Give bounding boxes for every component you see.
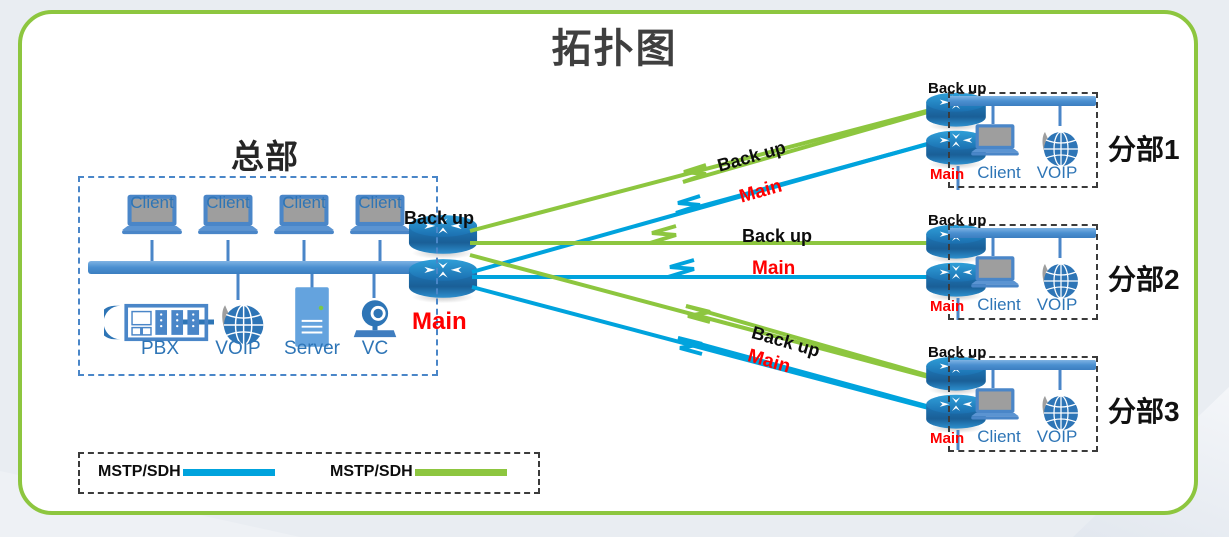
link-hq-branch3-backup — [470, 255, 932, 378]
link-hq-branch2-backup — [470, 226, 930, 243]
branch1-main-router-label: Main — [930, 166, 964, 183]
legend: MSTP/SDH MSTP/SDH — [78, 452, 540, 494]
hq-server-label: Server — [282, 340, 342, 357]
hq-vc-label: VC — [352, 340, 398, 357]
branch3-voip-label: VOIP — [1034, 428, 1080, 445]
branch1-client-label: Client — [972, 164, 1026, 181]
link-hq-branch1-backup — [470, 110, 930, 231]
branch2-backup-router-label: Back up — [928, 212, 986, 229]
hq-backup-router-label: Back up — [404, 208, 474, 229]
link-branch2-main-label: Main — [752, 258, 795, 280]
hq-main-router-label: Main — [412, 308, 467, 336]
link-branch2-backup-label: Back up — [742, 226, 812, 247]
link-hq-branch1-main — [472, 142, 934, 272]
page-title: 拓扑图 — [0, 16, 1229, 74]
branch3-client-label: Client — [972, 428, 1026, 445]
legend-label-green: MSTP/SDH — [330, 463, 413, 481]
hq-pbx-label: PBX — [126, 340, 194, 357]
branch2-main-router-label: Main — [930, 298, 964, 315]
branch1-name: 分部1 — [1108, 128, 1180, 168]
branch1-voip-label: VOIP — [1034, 164, 1080, 181]
link-hq-branch3-main — [472, 287, 936, 410]
branch3-main-router-label: Main — [930, 430, 964, 447]
branch3-name: 分部3 — [1108, 390, 1180, 430]
branch2-name: 分部2 — [1108, 258, 1180, 298]
hq-client-2-label: Client — [194, 194, 262, 211]
legend-line-blue — [183, 469, 275, 476]
legend-label-blue: MSTP/SDH — [98, 463, 181, 481]
branch1-backup-router-label: Back up — [928, 80, 986, 97]
hq-voip-label: VOIP — [210, 340, 266, 357]
branch3-backup-router-label: Back up — [928, 344, 986, 361]
hq-client-1-label: Client — [118, 194, 186, 211]
hq-title: 总部 — [185, 130, 345, 178]
diagram-stage: 拓扑图 总部 Client Client Client Client PBX V… — [0, 0, 1229, 537]
legend-item-mstp-blue: MSTP/SDH — [98, 463, 275, 481]
legend-line-green — [415, 469, 507, 476]
branch2-client-label: Client — [972, 296, 1026, 313]
legend-item-mstp-green: MSTP/SDH — [330, 463, 507, 481]
hq-client-3-label: Client — [270, 194, 338, 211]
branch2-voip-label: VOIP — [1034, 296, 1080, 313]
